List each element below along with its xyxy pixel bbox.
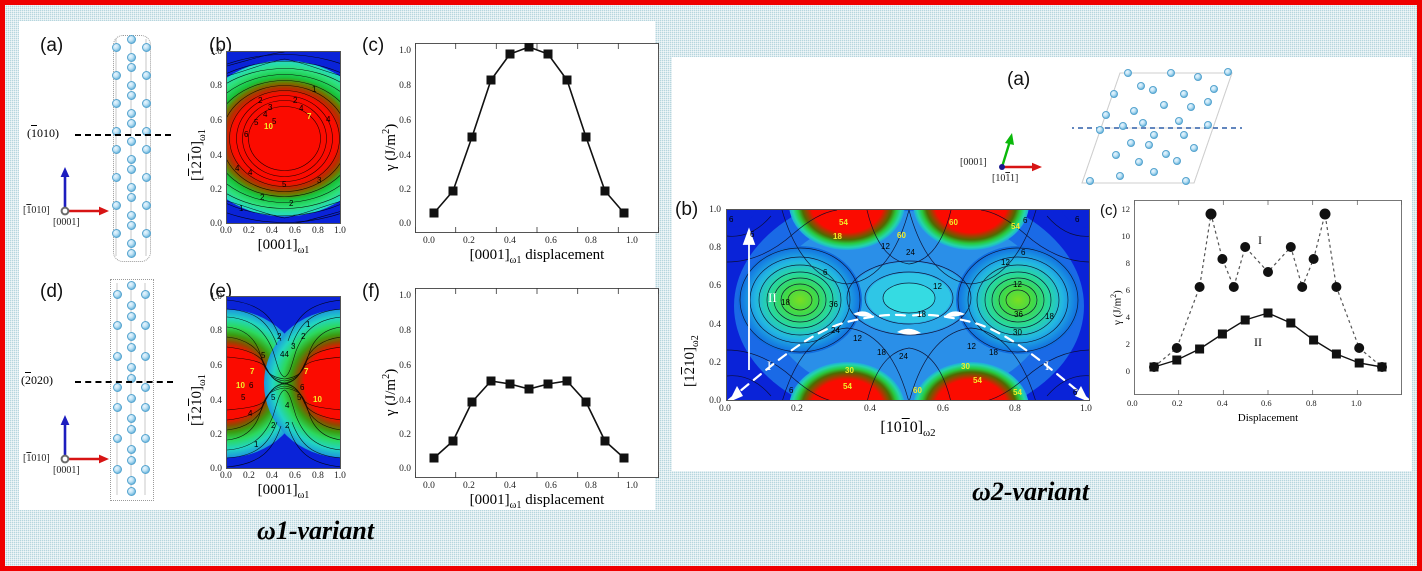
slip-plane-dashed-line-d bbox=[75, 381, 173, 383]
plane-label-d: (2020) bbox=[21, 373, 53, 388]
axis-label-up-a: [1010] bbox=[23, 205, 50, 216]
xlabel-b-left: [0001]ω1 bbox=[226, 237, 341, 256]
panel-tag-c-left: (c) bbox=[362, 35, 384, 57]
xlabel-f-left: [0001]ω1 displacement bbox=[415, 492, 659, 511]
right-figure-panel: (a) bbox=[672, 57, 1412, 471]
left-figure-panel: (a) bbox=[19, 21, 655, 510]
svg-text:I: I bbox=[1258, 233, 1262, 247]
omega-glyph-1: ω bbox=[257, 516, 276, 545]
panel-tag-d-left: (d) bbox=[40, 281, 63, 303]
contour-plot-b-right: II I I 6 6 6 54 60 54 6 18 60 12 24 6 12… bbox=[726, 209, 1090, 401]
xlabel-e-left: [0001]ω1 bbox=[226, 482, 341, 501]
panel-tag-f-left: (f) bbox=[362, 281, 380, 303]
slip-plane-dashed-line-a bbox=[75, 134, 171, 136]
line-plot-f-left bbox=[415, 288, 659, 478]
xlabel-c-left: [0001]ω1 displacement bbox=[415, 247, 659, 266]
plane-label-a: (1010) bbox=[27, 126, 59, 141]
axis-label-right-a-right: [1011] bbox=[992, 173, 1018, 184]
structure-a-right bbox=[1072, 65, 1242, 200]
contour-plot-b-left: 1 2 2 3 4 4 4 5 5 7 6 10 4 4 5 3 2 2 1 bbox=[226, 51, 341, 224]
xlabel-c-right: Displacement bbox=[1134, 412, 1402, 424]
region-label-I-right: I bbox=[1045, 358, 1049, 374]
line-plot-c-left bbox=[415, 43, 659, 233]
svg-text:II: II bbox=[1254, 335, 1262, 349]
axis-label-right-a: [0001] bbox=[53, 217, 80, 228]
axis-label-right-d: [0001] bbox=[53, 465, 80, 476]
contour-plot-e-left: 1 2 2 3 5 44 7 7 10 6 6 5 5 5 10 4 4 2 2… bbox=[226, 296, 341, 469]
caption-omega2-variant: ω2-variant bbox=[972, 477, 1089, 507]
axis-label-up-a-right: [0001] bbox=[960, 157, 987, 168]
axes-triad-a: [1010] [0001] bbox=[57, 161, 127, 231]
panel-tag-b-right: (b) bbox=[675, 199, 698, 221]
omega-glyph-2: ω bbox=[972, 477, 991, 506]
region-label-II: II bbox=[768, 290, 777, 306]
axis-label-up-d: [1010] bbox=[23, 453, 50, 464]
line-plot-c-right: I II bbox=[1134, 200, 1402, 395]
xlabel-b-right: [1010]ω2 bbox=[726, 419, 1090, 439]
axes-triad-a-right: [0001] [1011] bbox=[990, 127, 1070, 197]
panel-tag-a-right: (a) bbox=[1007, 69, 1030, 91]
axes-triad-d: [1010] [0001] bbox=[57, 409, 127, 479]
panel-tag-c-right: (c) bbox=[1100, 202, 1118, 219]
ylabel-f-left: γ (J/m2) bbox=[381, 369, 400, 416]
panel-tag-a-left: (a) bbox=[40, 35, 63, 57]
caption-omega1-variant: ω1-variant bbox=[257, 516, 374, 546]
figure-canvas: (a) bbox=[0, 0, 1422, 571]
region-label-I-left: I bbox=[767, 358, 771, 374]
ylabel-c-left: γ (J/m2) bbox=[381, 124, 400, 171]
